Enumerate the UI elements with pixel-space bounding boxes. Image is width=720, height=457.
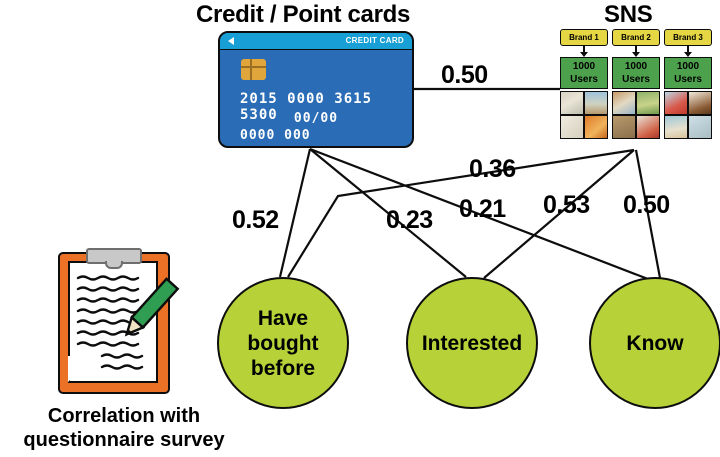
users-count-2: 1000 [613, 60, 659, 73]
corr-label-card-sns: 0.50 [441, 61, 488, 90]
outcome-circle-interested: Interested [406, 277, 538, 409]
outcome-label-line-2: bought [247, 331, 318, 356]
photo-thumbnail [613, 92, 635, 114]
users-label-2: Users [613, 73, 659, 86]
photo-thumbnail [637, 116, 659, 138]
legend-caption-line-1: Correlation with [0, 404, 248, 428]
users-box-1: 1000 Users [560, 57, 608, 89]
photo-grid-3 [664, 91, 712, 139]
photo-thumbnail [561, 92, 583, 114]
outcome-label-know: Know [626, 331, 683, 356]
photo-thumbnail [561, 116, 583, 138]
corr-label-sns-interested: 0.53 [543, 191, 590, 220]
brand-box-2: Brand 2 [612, 29, 660, 46]
play-triangle-icon [228, 37, 234, 45]
photo-thumbnail [665, 92, 687, 114]
card-header-strip: CREDIT CARD [220, 33, 412, 50]
brand-arrow-icon-3 [664, 46, 712, 57]
outcome-label-line-3: before [247, 356, 318, 381]
card-holder-name: 0000 000 [240, 128, 311, 143]
photo-thumbnail [689, 92, 711, 114]
clipboard-paper-folded-corner [68, 356, 94, 382]
photo-thumbnail [585, 116, 607, 138]
photo-thumbnail [665, 116, 687, 138]
photo-grid-2 [612, 91, 660, 139]
legend-caption-line-2: questionnaire survey [0, 428, 248, 452]
users-label-1: Users [561, 73, 607, 86]
corr-label-sns-know: 0.50 [623, 191, 670, 220]
outcome-label-line-1: Have [247, 306, 318, 331]
sns-column-1: Brand 1 1000 Users [560, 29, 608, 139]
corr-label-card-know: 0.21 [459, 195, 506, 224]
photo-thumbnail [585, 92, 607, 114]
legend-caption: Correlation with questionnaire survey [0, 404, 248, 452]
brand-arrow-icon-1 [560, 46, 608, 57]
sns-column-2: Brand 2 1000 Users [612, 29, 660, 139]
card-brand-label: CREDIT CARD [346, 36, 404, 45]
corr-label-sns-have-bought: 0.36 [469, 155, 516, 184]
brand-box-1: Brand 1 [560, 29, 608, 46]
edge-card-have-bought [280, 149, 310, 277]
photo-thumbnail [689, 116, 711, 138]
credit-card-graphic: CREDIT CARD 2015 0000 3615 5300 00/00 00… [218, 31, 414, 148]
pencil-icon [110, 266, 185, 356]
photo-grid-1 [560, 91, 608, 139]
corr-label-card-have-bought: 0.52 [232, 206, 279, 235]
outcome-circle-have-bought-before: Have bought before [217, 277, 349, 409]
users-box-3: 1000 Users [664, 57, 712, 89]
clipboard-icon [58, 252, 170, 394]
photo-thumbnail [637, 92, 659, 114]
users-count-1: 1000 [561, 60, 607, 73]
brand-box-3: Brand 3 [664, 29, 712, 46]
outcome-label-have-bought-before: Have bought before [247, 306, 318, 381]
brand-arrow-icon-2 [612, 46, 660, 57]
corr-label-card-interested: 0.23 [386, 206, 433, 235]
outcome-label-interested: Interested [422, 331, 522, 356]
card-chip-icon [241, 59, 266, 80]
outcome-circle-know: Know [589, 277, 720, 409]
photo-thumbnail [613, 116, 635, 138]
sns-column-3: Brand 3 1000 Users [664, 29, 712, 139]
users-label-3: Users [665, 73, 711, 86]
diagram-canvas: Credit / Point cards SNS CREDIT CARD 201… [0, 0, 720, 457]
card-expiry: 00/00 [220, 111, 412, 126]
users-count-3: 1000 [665, 60, 711, 73]
users-box-2: 1000 Users [612, 57, 660, 89]
